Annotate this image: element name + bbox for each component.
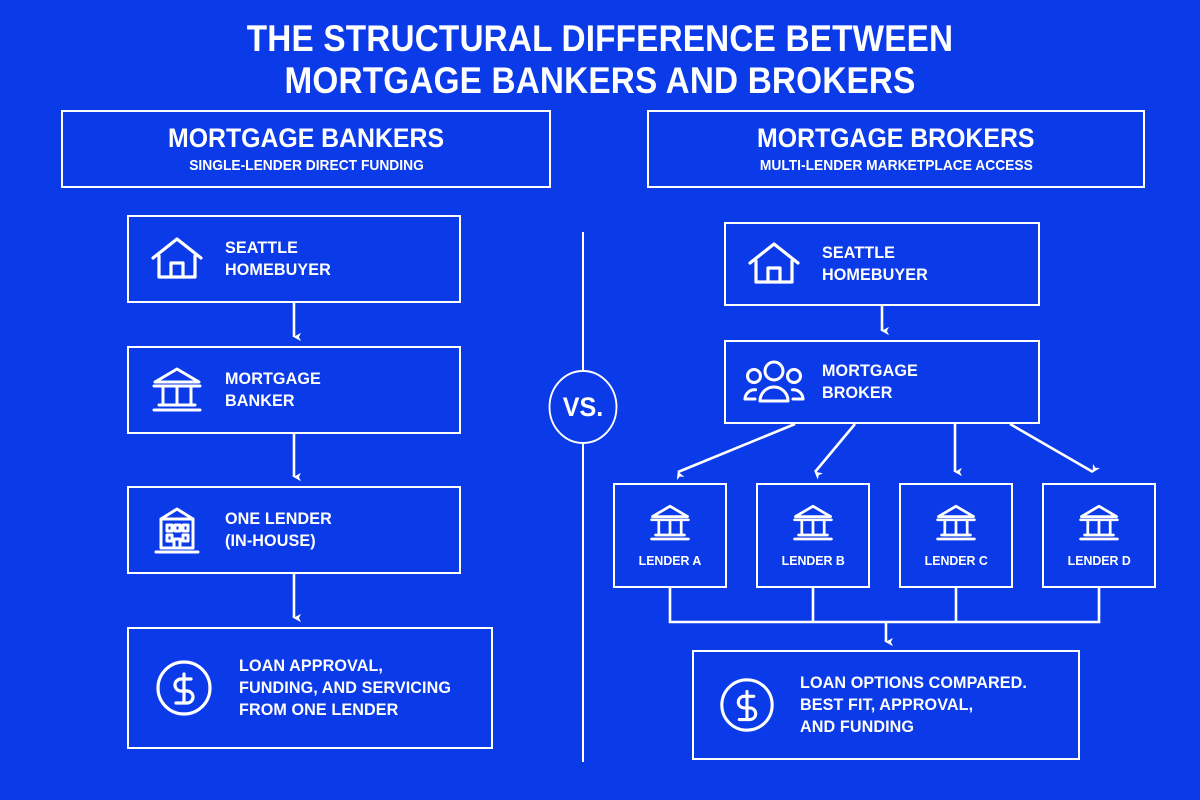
node-right-outcome-label: LOAN OPTIONS COMPARED. BEST FIT, APPROVA… bbox=[800, 672, 1027, 738]
node-right-mortgage-broker: MORTGAGE BROKER bbox=[724, 340, 1040, 424]
column-header-brokers-subtitle: MULTI-LENDER MARKETPLACE ACCESS bbox=[760, 156, 1033, 175]
column-header-brokers-title: MORTGAGE BROKERS bbox=[757, 123, 1034, 153]
node-right-seattle-homebuyer: SEATTLE HOMEBUYER bbox=[724, 222, 1040, 306]
node-right-seattle-homebuyer-label: SEATTLE HOMEBUYER bbox=[822, 242, 928, 286]
node-left-outcome: LOAN APPROVAL, FUNDING, AND SERVICING FR… bbox=[127, 627, 493, 749]
dollar-circle-icon bbox=[129, 657, 239, 719]
vs-badge-label: VS. bbox=[563, 392, 603, 423]
node-lender-b: LENDER B bbox=[756, 483, 870, 588]
node-left-seattle-homebuyer-label: SEATTLE HOMEBUYER bbox=[225, 237, 331, 281]
vs-divider-line bbox=[582, 232, 584, 762]
node-lender-b-label: LENDER B bbox=[781, 553, 844, 569]
node-lender-c: LENDER C bbox=[899, 483, 1013, 588]
node-lender-d-label: LENDER D bbox=[1067, 553, 1130, 569]
node-left-mortgage-banker-label: MORTGAGE BANKER bbox=[225, 368, 321, 412]
bank-columns-icon bbox=[934, 503, 978, 548]
arrow-broker-to-lender-d bbox=[1010, 424, 1093, 472]
vs-badge: VS. bbox=[549, 370, 618, 444]
node-left-one-lender: ONE LENDER (IN-HOUSE) bbox=[127, 486, 461, 574]
arrow-broker-to-lender-a bbox=[678, 424, 795, 472]
dollar-circle-icon bbox=[694, 675, 800, 735]
node-left-outcome-label: LOAN APPROVAL, FUNDING, AND SERVICING FR… bbox=[239, 655, 451, 721]
bank-columns-icon bbox=[1077, 503, 1121, 548]
house-icon bbox=[726, 240, 822, 288]
node-left-mortgage-banker: MORTGAGE BANKER bbox=[127, 346, 461, 434]
node-lender-a-label: LENDER A bbox=[639, 553, 702, 569]
lender-merge-bus bbox=[670, 588, 1099, 622]
node-right-outcome: LOAN OPTIONS COMPARED. BEST FIT, APPROVA… bbox=[692, 650, 1080, 760]
node-lender-a: LENDER A bbox=[613, 483, 727, 588]
bank-columns-icon bbox=[648, 503, 692, 548]
node-lender-c-label: LENDER C bbox=[924, 553, 987, 569]
column-header-brokers: MORTGAGE BROKERS MULTI-LENDER MARKETPLAC… bbox=[647, 110, 1145, 188]
infographic-canvas: THE STRUCTURAL DIFFERENCE BETWEEN MORTGA… bbox=[0, 0, 1200, 800]
node-lender-d: LENDER D bbox=[1042, 483, 1156, 588]
node-left-seattle-homebuyer: SEATTLE HOMEBUYER bbox=[127, 215, 461, 303]
column-header-bankers: MORTGAGE BANKERS SINGLE-LENDER DIRECT FU… bbox=[61, 110, 551, 188]
column-header-bankers-subtitle: SINGLE-LENDER DIRECT FUNDING bbox=[189, 156, 424, 175]
column-header-bankers-title: MORTGAGE BANKERS bbox=[168, 123, 444, 153]
bank-columns-icon bbox=[129, 365, 225, 415]
arrow-broker-to-lender-b bbox=[815, 424, 855, 472]
node-left-one-lender-label: ONE LENDER (IN-HOUSE) bbox=[225, 508, 332, 552]
people-group-icon bbox=[726, 359, 822, 405]
office-building-icon bbox=[129, 505, 225, 555]
bank-columns-icon bbox=[791, 503, 835, 548]
node-right-mortgage-broker-label: MORTGAGE BROKER bbox=[822, 360, 918, 404]
house-icon bbox=[129, 235, 225, 283]
page-title: THE STRUCTURAL DIFFERENCE BETWEEN MORTGA… bbox=[60, 18, 1140, 102]
